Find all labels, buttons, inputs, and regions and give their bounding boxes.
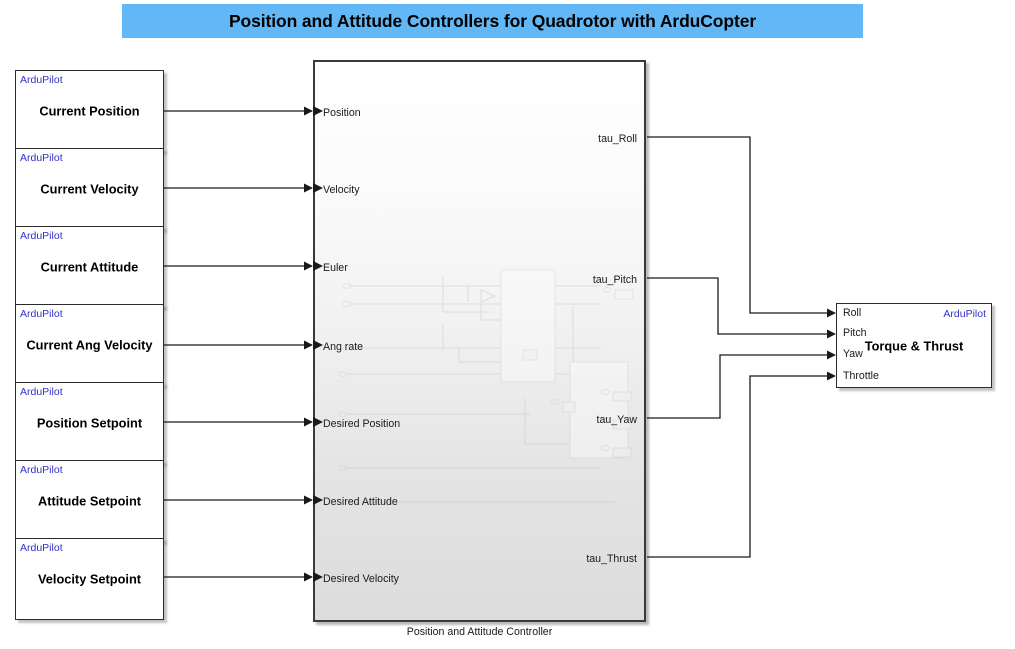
input-port-position: Position [323, 108, 361, 119]
input-port-velocity: Velocity [323, 185, 360, 196]
block-current-attitude[interactable]: ArduPilot Current Attitude [15, 226, 164, 308]
ardupilot-tag: ArduPilot [20, 465, 63, 476]
output-port-tau-yaw: tau_Yaw [597, 415, 637, 426]
block-attitude-setpoint[interactable]: ArduPilot Attitude Setpoint [15, 460, 164, 542]
block-label: Current Attitude [16, 260, 163, 275]
ardupilot-tag: ArduPilot [20, 387, 63, 398]
block-current-velocity[interactable]: ArduPilot Current Velocity [15, 148, 164, 230]
wire-tau-thrust-to-throttle [647, 376, 835, 557]
block-label: Current Ang Velocity [16, 338, 163, 353]
input-port-desired-attitude: Desired Attitude [323, 497, 398, 508]
ardupilot-tag: ArduPilot [20, 75, 63, 86]
output-port-tau-pitch: tau_Pitch [593, 275, 637, 286]
page-title: Position and Attitude Controllers for Qu… [122, 4, 863, 38]
block-current-position[interactable]: ArduPilot Current Position [15, 70, 164, 152]
output-port-tau-thrust: tau_Thrust [586, 554, 637, 565]
sink-port-roll: Roll [843, 308, 861, 319]
input-port-ang-rate: Ang rate [323, 342, 363, 353]
block-label: Velocity Setpoint [16, 572, 163, 587]
diagram-canvas: Position and Attitude Controllers for Qu… [0, 0, 1015, 649]
block-label: Position Setpoint [16, 416, 163, 431]
subsystem-inner-preview [315, 62, 646, 622]
sink-port-pitch: Pitch [843, 328, 867, 339]
ardupilot-tag: ArduPilot [20, 543, 63, 554]
block-label: Current Velocity [16, 182, 163, 197]
input-port-desired-velocity: Desired Velocity [323, 574, 399, 585]
ardupilot-tag: ArduPilot [20, 153, 63, 164]
subsystem-position-attitude-controller[interactable]: Position Velocity Euler Ang rate Desired… [313, 60, 646, 622]
input-port-euler: Euler [323, 263, 348, 274]
wire-tau-yaw-to-yaw [647, 355, 835, 418]
block-velocity-setpoint[interactable]: ArduPilot Velocity Setpoint [15, 538, 164, 620]
wire-tau-roll-to-roll [647, 137, 835, 313]
block-current-ang-velocity[interactable]: ArduPilot Current Ang Velocity [15, 304, 164, 386]
wire-tau-pitch-to-pitch [647, 278, 835, 334]
sink-port-yaw: Yaw [843, 349, 863, 360]
block-label: Attitude Setpoint [16, 494, 163, 509]
ardupilot-tag: ArduPilot [943, 309, 986, 320]
sink-port-throttle: Throttle [843, 371, 879, 382]
block-label: Current Position [16, 104, 163, 119]
ardupilot-tag: ArduPilot [20, 231, 63, 242]
output-port-tau-roll: tau_Roll [598, 134, 637, 145]
block-position-setpoint[interactable]: ArduPilot Position Setpoint [15, 382, 164, 464]
input-port-desired-position: Desired Position [323, 419, 400, 430]
ardupilot-tag: ArduPilot [20, 309, 63, 320]
subsystem-caption: Position and Attitude Controller [313, 626, 646, 638]
